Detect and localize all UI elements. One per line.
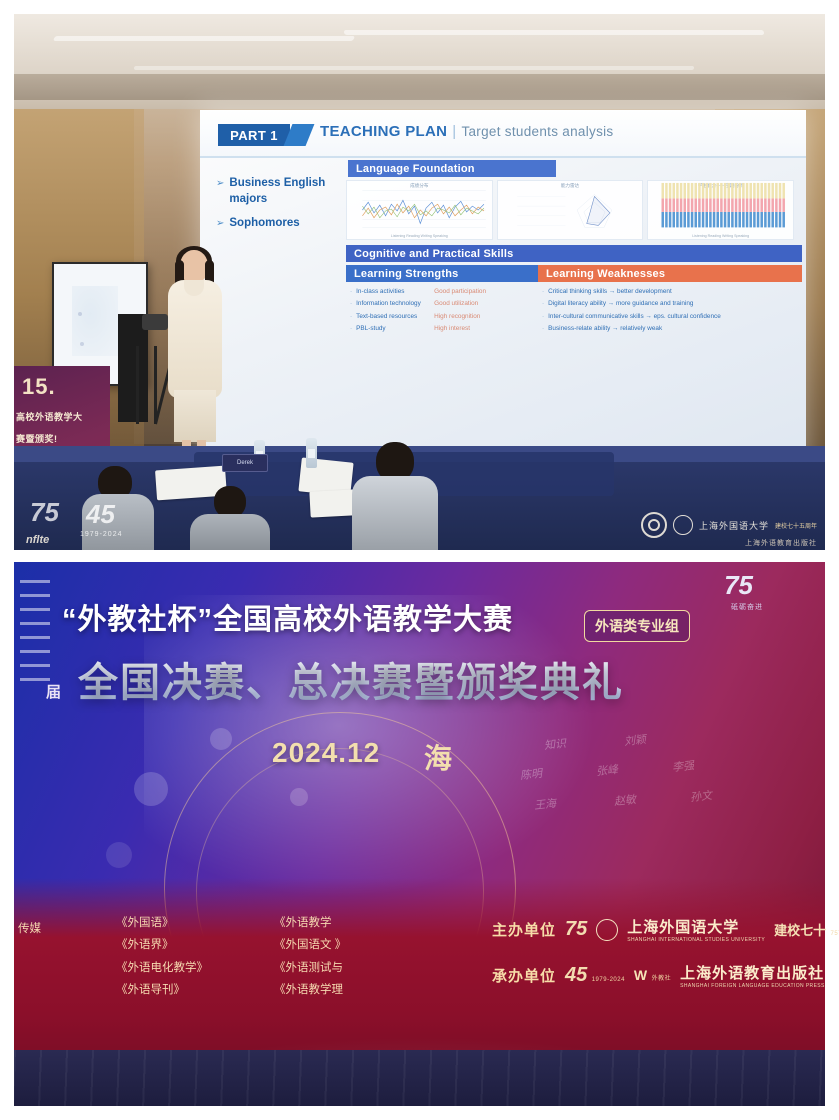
journal-title: 《外语教学 <box>274 912 346 934</box>
table-row: ·Information technologyGood utilization <box>350 298 536 310</box>
journal-column-2: 《外语教学 《外国语文 》 《外语测试与 《外语教学理 <box>274 912 346 1002</box>
table-row: ·Business-relate ability → relatively we… <box>542 323 794 335</box>
board-marker-dot <box>80 342 84 346</box>
signature-mark: 王海 <box>533 795 557 813</box>
tripod-leg <box>136 346 139 424</box>
bokeh-light <box>290 788 308 806</box>
line-chart: 成绩分布 Listening Reading Writing Sp <box>346 180 493 240</box>
projection-screen: PART 1 TEACHING PLAN|Target students ana… <box>200 110 806 465</box>
judge-nameplate: Derek <box>222 454 268 472</box>
side-banner-line1: 高校外语教学大 <box>16 410 83 423</box>
section-language-foundation: Language Foundation <box>348 160 556 177</box>
nflte-logo-text: nflte <box>26 534 49 546</box>
table-row: ·Text-based resourcesHigh recognition <box>350 311 536 323</box>
water-bottle <box>306 438 317 468</box>
judge-figure <box>184 480 274 550</box>
section-cognitive-skills: Cognitive and Practical Skills <box>346 245 802 262</box>
ceiling-light <box>134 66 695 70</box>
banner-date: 2024.12 <box>272 737 380 769</box>
sponsor-45-block: 45 1979-2024 <box>565 964 625 987</box>
ceiling-light <box>344 30 765 35</box>
journal-title: 《外语教学理 <box>274 979 346 1001</box>
anniversary-mark-75: 75 <box>30 497 59 528</box>
backdrop-press-name: 上海外语教育出版社 <box>745 538 817 548</box>
banner-city: 海 <box>424 737 452 777</box>
chevron-right-icon: ➢ <box>216 176 224 207</box>
table-row: ·Inter-cultural communicative skills → e… <box>542 311 794 323</box>
university-seal-icon <box>596 919 618 941</box>
bullet-dot-icon: · <box>542 298 544 310</box>
journal-column-1: 《外国语》 《外语界》 《外语电化教学》 《外语导刊》 <box>116 912 208 1002</box>
stage-floor <box>14 1050 825 1106</box>
slide-bullet-list: ➢ Business English majors ➢ Sophomores <box>216 176 344 241</box>
bullet-dot-icon: · <box>350 298 352 310</box>
sponsor-org-name-en: SHANGHAI FOREIGN LANGUAGE EDUCATION PRES… <box>680 983 825 989</box>
board-marker-dot <box>78 312 82 316</box>
sflep-logo-block: W 外教社 <box>634 967 671 985</box>
strength-value: High recognition <box>434 311 480 323</box>
signature-mark: 赵敏 <box>613 791 637 809</box>
backdrop-logo-row: 上海外国语大学 建校七十五周年 <box>641 512 817 538</box>
slide-subheading: Target students analysis <box>461 124 613 139</box>
signature-mark: 知识 <box>543 735 567 753</box>
presenter-figure <box>164 250 226 465</box>
chart-legend: Listening Reading Writing Speaking <box>648 234 793 238</box>
weaknesses-list: ·Critical thinking skills → better devel… <box>542 286 794 336</box>
photo-award-ceremony <box>14 562 825 1106</box>
sponsor-label: 主办单位 <box>492 919 556 940</box>
bullet-dot-icon: · <box>542 311 544 323</box>
tripod-leg <box>154 346 157 424</box>
banner-anniversary-75: 75 <box>724 570 753 601</box>
bullet-dot-icon: · <box>350 323 352 335</box>
journal-title: 《外语测试与 <box>274 957 346 979</box>
strength-value: High interest <box>434 323 470 335</box>
sponsor-org-block: 上海外国语大学 SHANGHAI INTERNATIONAL STUDIES U… <box>627 916 765 943</box>
presenter-head <box>180 250 208 283</box>
sponsor-org-name: 上海外国语大学 <box>627 919 739 936</box>
chart-legend: Listening Reading Writing Speaking <box>347 234 492 238</box>
slide-part-label: PART 1 <box>218 124 290 146</box>
slide-divider <box>200 156 806 158</box>
banner-ordinal: 届 <box>46 681 61 702</box>
banner-anniversary-75-sub: 砥砺奋进 <box>731 602 763 612</box>
anniversary-mark-45: 45 <box>86 499 115 530</box>
weakness-item: Critical thinking skills → better develo… <box>548 286 672 298</box>
journal-title: 《外国语》 <box>116 912 208 934</box>
sponsor-row-organizer: 主办单位 75 上海外国语大学 SHANGHAI INTERNATIONAL S… <box>492 916 839 943</box>
strength-item: PBL-study <box>356 323 430 335</box>
column-header-weaknesses: Learning Weaknesses <box>538 265 802 282</box>
bokeh-light <box>134 772 168 806</box>
judge-figure <box>352 454 438 550</box>
signature-mark: 陈明 <box>519 765 543 783</box>
chevron-right-icon: ➢ <box>216 216 224 232</box>
sponsor-anniversary-years: 1979-2024 <box>592 977 625 983</box>
journal-column-label: 传媒 <box>18 918 41 940</box>
anniversary-years: 1979-2024 <box>80 531 122 538</box>
chart-panel-group: 成绩分布 Listening Reading Writing Sp <box>346 180 794 240</box>
banner-title-line1: “外教社杯”全国高校外语教学大赛 <box>62 596 513 638</box>
ceiling <box>14 14 825 109</box>
stacked-bar-chart: 学生能力——学期分析 Listening Reading Writing Spe… <box>647 180 794 240</box>
university-seal-icon <box>673 515 693 535</box>
sflep-logo-icon: W <box>634 967 647 983</box>
presenter-body <box>168 280 222 398</box>
journal-title: 《外语界》 <box>116 934 208 956</box>
radar-chart: 能力雷达 <box>497 180 644 240</box>
judge-body <box>190 514 270 550</box>
signature-mark: 张峰 <box>595 761 619 779</box>
ceiling-beam <box>14 74 825 100</box>
side-banner-number: 15. <box>22 374 56 400</box>
sponsor-org-block: 上海外语教育出版社 SHANGHAI FOREIGN LANGUAGE EDUC… <box>680 962 825 989</box>
column-header-strengths: Learning Strengths <box>346 265 544 282</box>
backdrop-anniversary: 建校七十五周年 <box>775 521 817 530</box>
swirl-logo-icon <box>641 512 667 538</box>
sponsor-anniversary-mark: 45 <box>565 964 587 986</box>
bullet-dot-icon: · <box>542 286 544 298</box>
sponsor-anniversary-cn: 建校七十 <box>774 923 826 938</box>
sponsor-row-host: 承办单位 45 1979-2024 W 外教社 上海外语教育出版社 SHANGH… <box>492 962 825 989</box>
page-root: PART 1 TEACHING PLAN|Target students ana… <box>0 0 839 1120</box>
strength-value: Good utilization <box>434 298 478 310</box>
presenter-skirt <box>174 390 216 442</box>
table-row: ·Critical thinking skills → better devel… <box>542 286 794 298</box>
side-banner-line2: 赛暨颁奖! <box>16 432 58 445</box>
table-row: ·Digital literacy ability → more guidanc… <box>542 298 794 310</box>
sponsor-org-name-en: SHANGHAI INTERNATIONAL STUDIES UNIVERSIT… <box>627 937 765 943</box>
table-row: ·In-class activitiesGood participation <box>350 286 536 298</box>
journal-title: 《外国语文 》 <box>274 934 346 956</box>
strength-item: Information technology <box>356 298 430 310</box>
bullet-label: Business English majors <box>229 176 344 207</box>
banner-title-line2: 全国决赛、总决赛暨颁奖典礼 <box>78 650 624 708</box>
weakness-item: Digital literacy ability → more guidance… <box>548 298 693 310</box>
sponsor-extra-block: 建校七十 75TH ANNIVERSARY <box>774 920 839 940</box>
weakness-item: Inter-cultural communicative skills → ep… <box>548 311 721 323</box>
table-row: ·PBL-studyHigh interest <box>350 323 536 335</box>
sponsor-anniversary-mark: 75 <box>565 918 587 941</box>
bullet-dot-icon: · <box>350 286 352 298</box>
sponsor-org-short: 外教社 <box>652 976 672 982</box>
banner-category-badge: 外语类专业组 <box>584 610 690 642</box>
strength-value: Good participation <box>434 286 486 298</box>
signature-mark: 刘颖 <box>623 731 647 749</box>
photo-lecture-room: PART 1 TEACHING PLAN|Target students ana… <box>14 14 825 550</box>
strength-item: Text-based resources <box>356 311 430 323</box>
slide-heading-separator: | <box>452 123 456 140</box>
bokeh-light <box>210 728 232 750</box>
ceiling-light <box>53 36 355 41</box>
backdrop-university-name: 上海外国语大学 <box>699 519 769 532</box>
bokeh-light <box>106 842 132 868</box>
journal-title: 《外语电化教学》 <box>116 957 208 979</box>
list-item: ➢ Sophomores <box>216 216 344 232</box>
judge-body <box>352 476 438 550</box>
strengths-list: ·In-class activitiesGood participation ·… <box>350 286 536 336</box>
bullet-dot-icon: · <box>542 323 544 335</box>
slide-heading: TEACHING PLAN|Target students analysis <box>320 123 613 140</box>
bullet-label: Sophomores <box>229 216 299 232</box>
bullet-dot-icon: · <box>350 311 352 323</box>
sponsor-anniversary-en: 75TH ANNIVERSARY <box>831 931 839 937</box>
signature-mark: 李强 <box>671 757 695 775</box>
sponsor-label: 承办单位 <box>492 965 556 986</box>
slide-content: PART 1 TEACHING PLAN|Target students ana… <box>200 110 806 465</box>
weakness-item: Business-relate ability → relatively wea… <box>548 323 662 335</box>
strength-item: In-class activities <box>356 286 430 298</box>
list-item: ➢ Business English majors <box>216 176 344 207</box>
signature-mark: 孙文 <box>689 787 713 805</box>
slide-heading-main: TEACHING PLAN <box>320 123 447 140</box>
floor-pattern <box>14 1050 825 1106</box>
journal-title: 《外语导刊》 <box>116 979 208 1001</box>
sponsor-org-name: 上海外语教育出版社 <box>680 965 824 982</box>
